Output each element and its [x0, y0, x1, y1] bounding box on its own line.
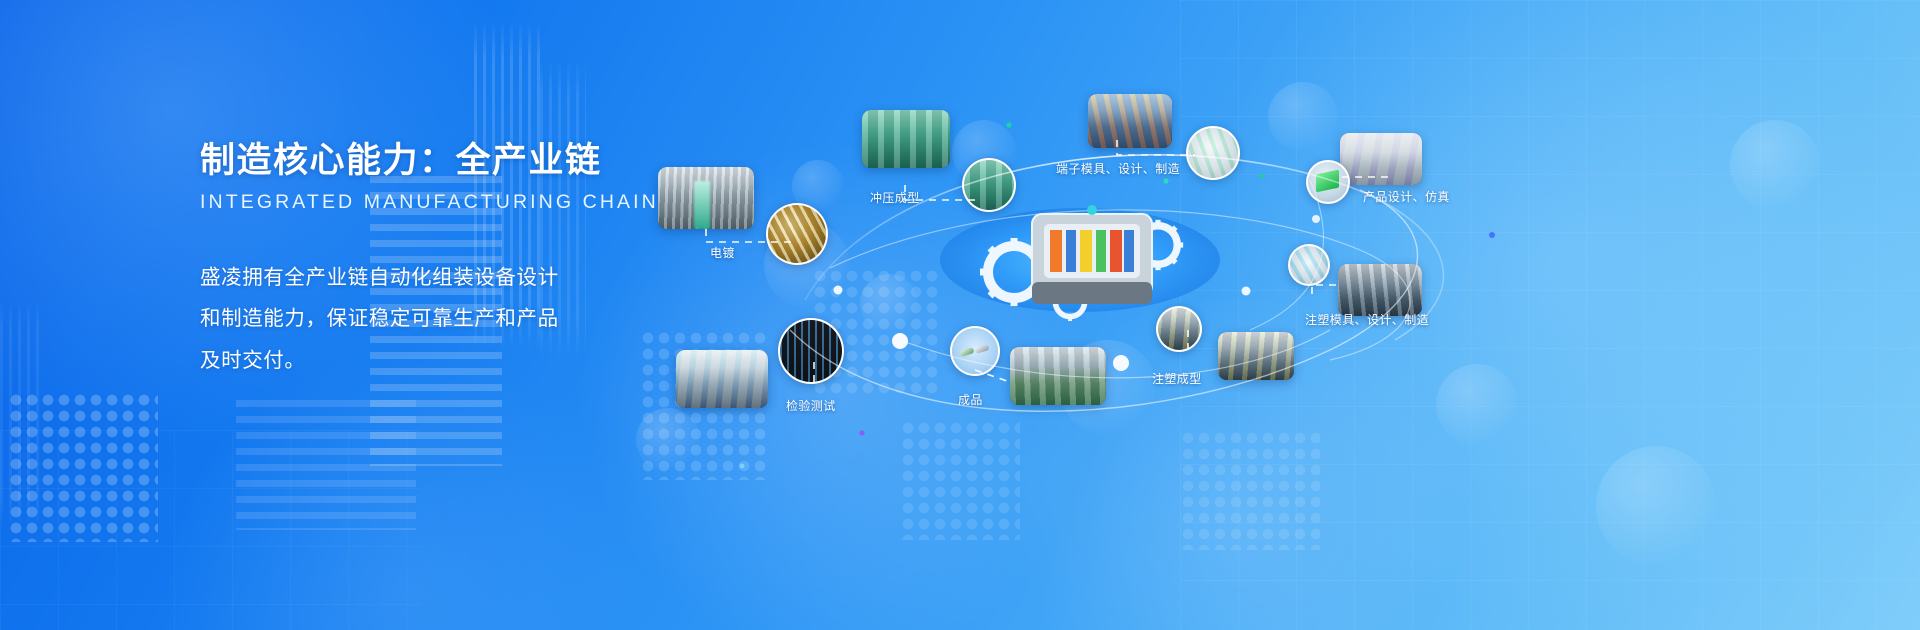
- speck: [1006, 122, 1011, 127]
- orbit-dot: [834, 286, 843, 295]
- orbit-dot: [1242, 287, 1251, 296]
- orbit-path: [1250, 180, 1324, 330]
- speck: [1163, 178, 1168, 183]
- orbit-dot: [892, 333, 908, 349]
- orbit-dot: [1113, 355, 1129, 371]
- page-title: 制造核心能力：全产业链: [200, 140, 820, 182]
- page-subtitle: INTEGRATED MANUFACTURING CHAIN: [200, 191, 820, 214]
- orbit-dot: [1312, 215, 1320, 223]
- orbit-path: [900, 330, 1330, 378]
- speck: [740, 464, 745, 469]
- hero-banner: 制造核心能力：全产业链 INTEGRATED MANUFACTURING CHA…: [0, 0, 1920, 630]
- speck: [1260, 174, 1265, 179]
- hero-copy: 制造核心能力：全产业链 INTEGRATED MANUFACTURING CHA…: [200, 140, 820, 381]
- hero-description: 盛凌拥有全产业链自动化组装设备设计和制造能力，保证稳定可靠生产和产品及时交付。: [200, 257, 560, 381]
- speck: [1489, 232, 1495, 238]
- assembly-machine-illustration: [1032, 205, 1152, 304]
- speck: [859, 430, 864, 435]
